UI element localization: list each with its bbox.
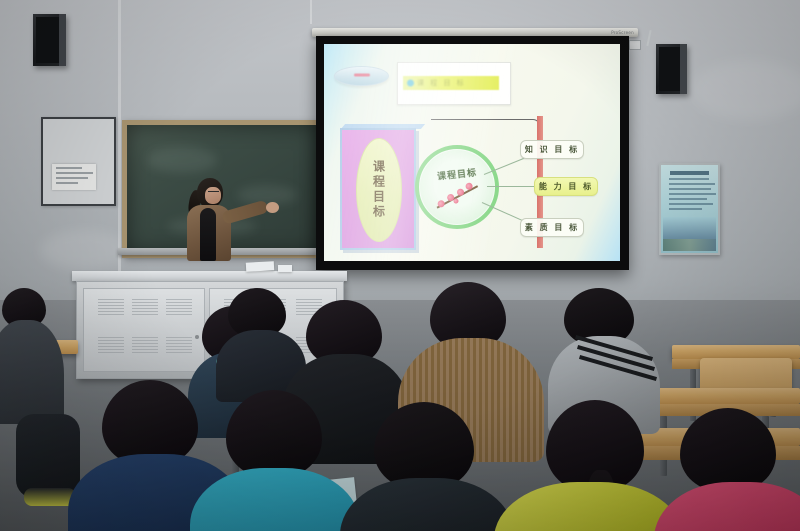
- student-pink-jacket: [660, 408, 800, 531]
- student-legs: [16, 414, 80, 498]
- student-body: [654, 482, 800, 531]
- screen-brand-label: ProScreen: [611, 30, 634, 35]
- classroom-photo: ProScreen 课 程 目 标 课程目标: [0, 0, 800, 531]
- podium-papers: [246, 261, 274, 271]
- teacher-hand: [266, 202, 279, 213]
- student-head: [226, 390, 322, 478]
- desk-back-right: [672, 345, 800, 359]
- wall-poster: [659, 163, 720, 255]
- student-body: [0, 320, 64, 424]
- student-body: [190, 468, 360, 531]
- teacher-face: [205, 187, 221, 204]
- student-cyan-jacket: [198, 390, 348, 531]
- goal-label-quality: 素 质 目 标: [520, 218, 584, 237]
- wall-speaker-left: [33, 14, 66, 66]
- student-head: [374, 402, 474, 490]
- student-yellow-jacket: [506, 400, 676, 531]
- notice-board: [41, 117, 116, 206]
- teacher-arm: [221, 200, 269, 225]
- teacher-glasses-icon: [208, 191, 219, 195]
- wall-outlet: [629, 40, 641, 50]
- podium-object: [278, 265, 292, 272]
- student-body: [340, 478, 514, 531]
- projector-screen: 课 程 目 标 课程目标 课程目标: [316, 36, 629, 270]
- student-head: [680, 408, 776, 492]
- goal-label-ability: 能 力 目 标: [534, 177, 598, 196]
- slide-content: 课 程 目 标 课程目标 课程目标: [324, 44, 620, 261]
- podium-top: [72, 271, 347, 281]
- teacher-top: [200, 208, 216, 261]
- goal-label-knowledge: 知 识 目 标: [520, 140, 584, 159]
- notice-paper: [52, 164, 96, 190]
- teacher: [183, 178, 293, 278]
- wall-speaker-right: [656, 44, 687, 94]
- podium-door-left: [83, 288, 205, 372]
- student-front-dark: [350, 402, 500, 531]
